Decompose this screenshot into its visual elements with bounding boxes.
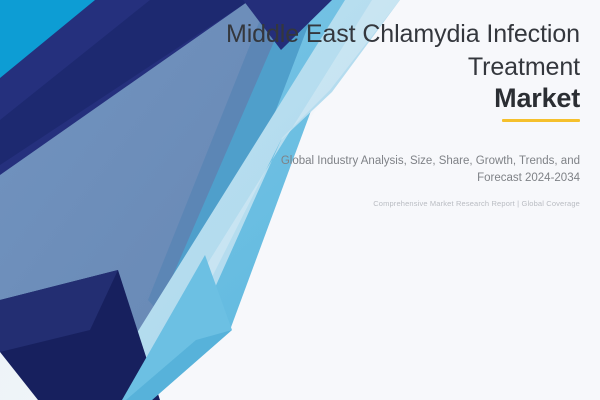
- title-block: Middle East Chlamydia Infection Treatmen…: [160, 18, 580, 85]
- subtitle-block: Global Industry Analysis, Size, Share, G…: [280, 153, 580, 186]
- market-heading: Market: [494, 84, 580, 112]
- cover-text-layer: Middle East Chlamydia Infection Treatmen…: [0, 0, 600, 400]
- accent-underline: [502, 119, 580, 122]
- report-caption: Comprehensive Market Research Report | G…: [260, 199, 580, 210]
- caption-block: Comprehensive Market Research Report | G…: [260, 199, 580, 210]
- report-cover: Middle East Chlamydia Infection Treatmen…: [0, 0, 600, 400]
- report-subtitle: Global Industry Analysis, Size, Share, G…: [280, 153, 580, 186]
- market-heading-block: Market: [494, 84, 580, 122]
- page-title: Middle East Chlamydia Infection Treatmen…: [160, 18, 580, 85]
